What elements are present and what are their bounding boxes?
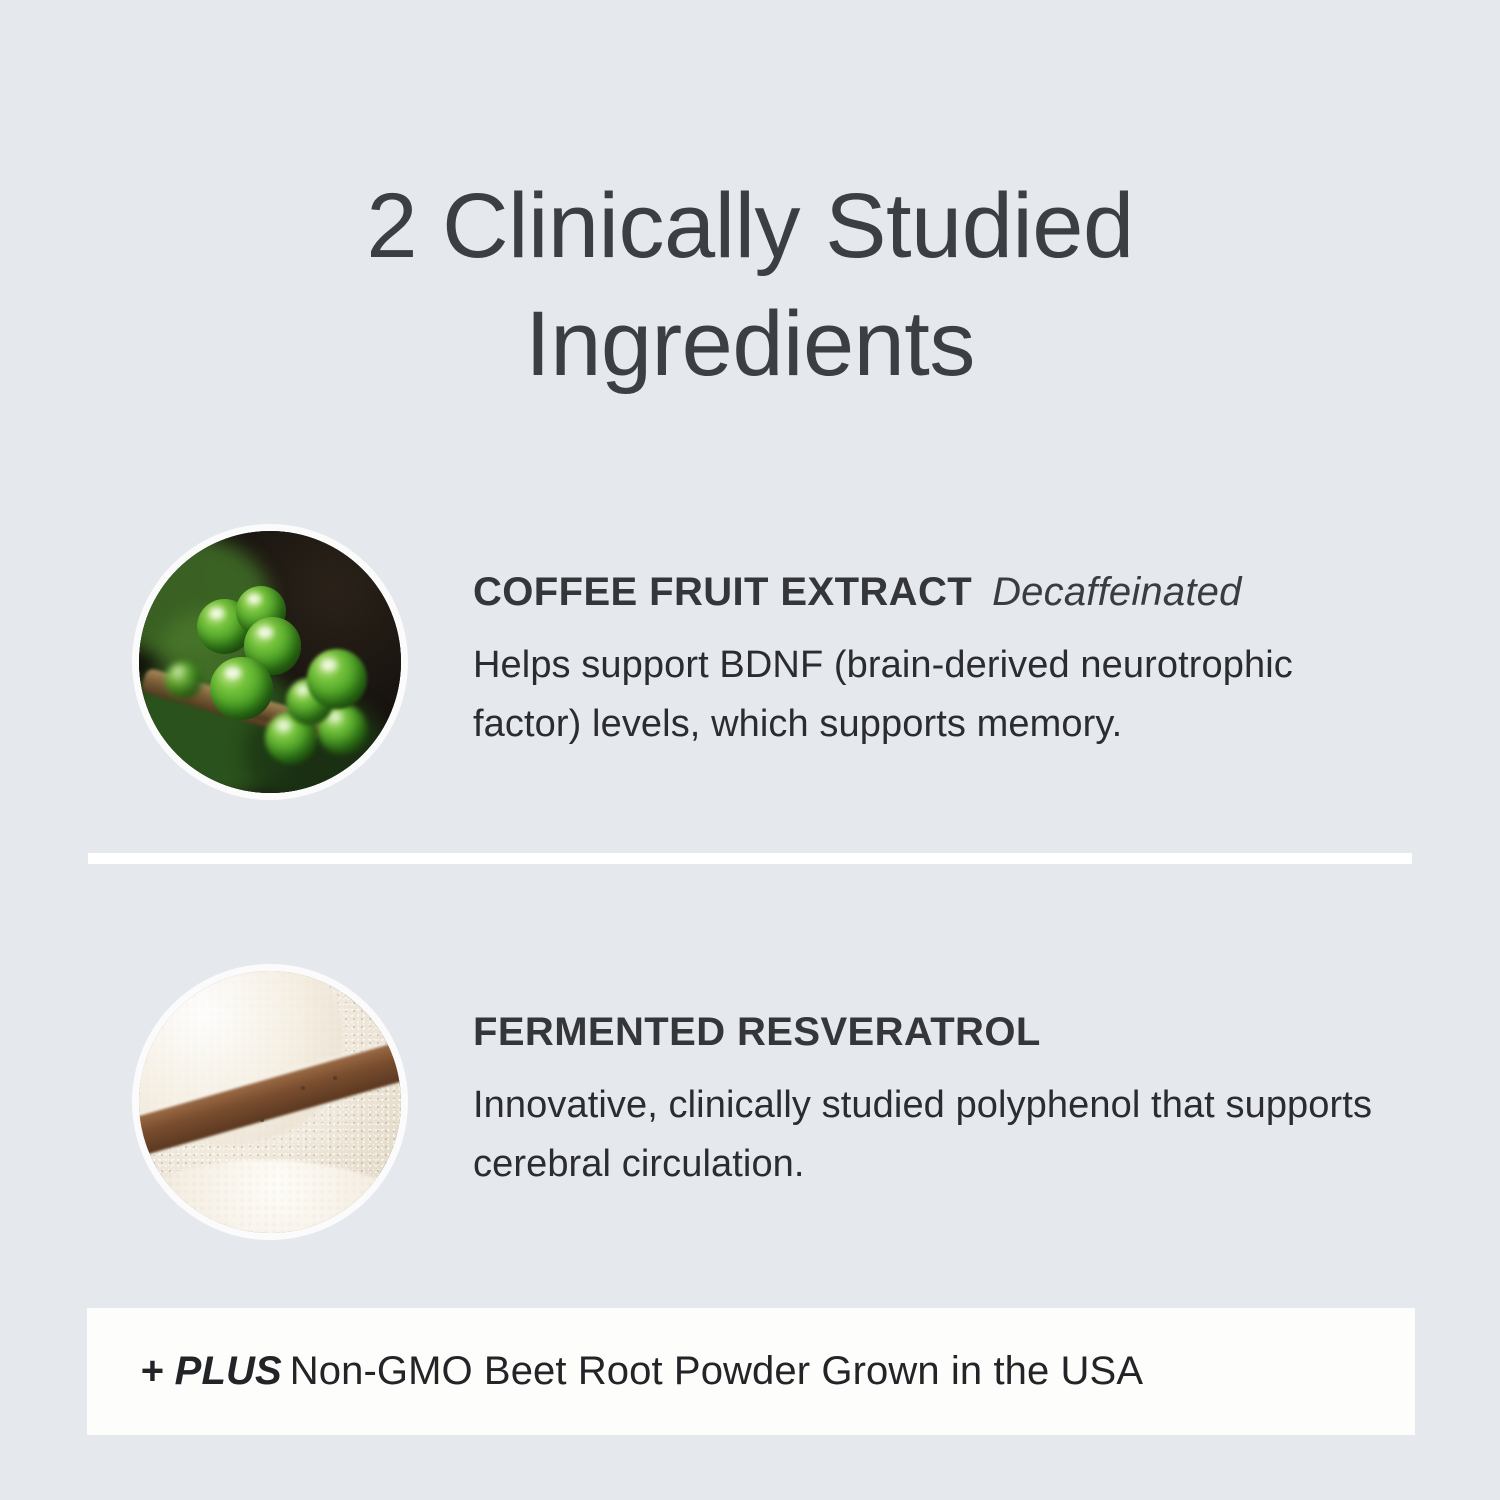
- plus-banner: + PLUSNon-GMO Beet Root Powder Grown in …: [87, 1308, 1415, 1435]
- ingredient-title: COFFEE FRUIT EXTRACTDecaffeinated: [473, 570, 1414, 614]
- plus-banner-text: + PLUSNon-GMO Beet Root Powder Grown in …: [87, 1349, 1143, 1394]
- plus-banner-body: Non-GMO Beet Root Powder Grown in the US…: [290, 1349, 1143, 1393]
- ingredient-name: FERMENTED RESVERATROL: [473, 1010, 1041, 1054]
- powder-speck: [260, 1118, 264, 1122]
- ingredient-copy: FERMENTED RESVERATROL Innovative, clinic…: [473, 1010, 1500, 1194]
- resveratrol-powder-image: [139, 971, 401, 1233]
- ingredient-description: Innovative, clinically studied polypheno…: [473, 1076, 1413, 1194]
- coffee-cherry: [210, 657, 273, 720]
- ingredient-row-coffee-fruit-extract: COFFEE FRUIT EXTRACTDecaffeinated Helps …: [0, 512, 1500, 812]
- page-title-line-1: 2 Clinically Studied: [366, 175, 1133, 277]
- section-divider: [88, 853, 1412, 864]
- coffee-cherry: [165, 662, 202, 699]
- page-title: 2 Clinically Studied Ingredients: [0, 168, 1500, 404]
- page-title-line-2: Ingredients: [525, 293, 975, 395]
- ingredient-copy: COFFEE FRUIT EXTRACTDecaffeinated Helps …: [473, 570, 1500, 754]
- powder-speck: [333, 1076, 337, 1080]
- plus-prefix: + PLUS: [140, 1349, 282, 1393]
- coffee-cherry: [307, 649, 367, 709]
- ingredient-description: Helps support BDNF (brain-derived neurot…: [473, 636, 1373, 754]
- ingredients-infographic: 2 Clinically Studied Ingredients COFFEE …: [0, 0, 1500, 1500]
- ingredient-title: FERMENTED RESVERATROL: [473, 1010, 1414, 1054]
- ingredient-name: COFFEE FRUIT EXTRACT: [473, 570, 972, 614]
- ingredient-qualifier: Decaffeinated: [992, 570, 1241, 614]
- coffee-fruit-image: [139, 531, 401, 793]
- ingredient-row-fermented-resveratrol: FERMENTED RESVERATROL Innovative, clinic…: [0, 952, 1500, 1252]
